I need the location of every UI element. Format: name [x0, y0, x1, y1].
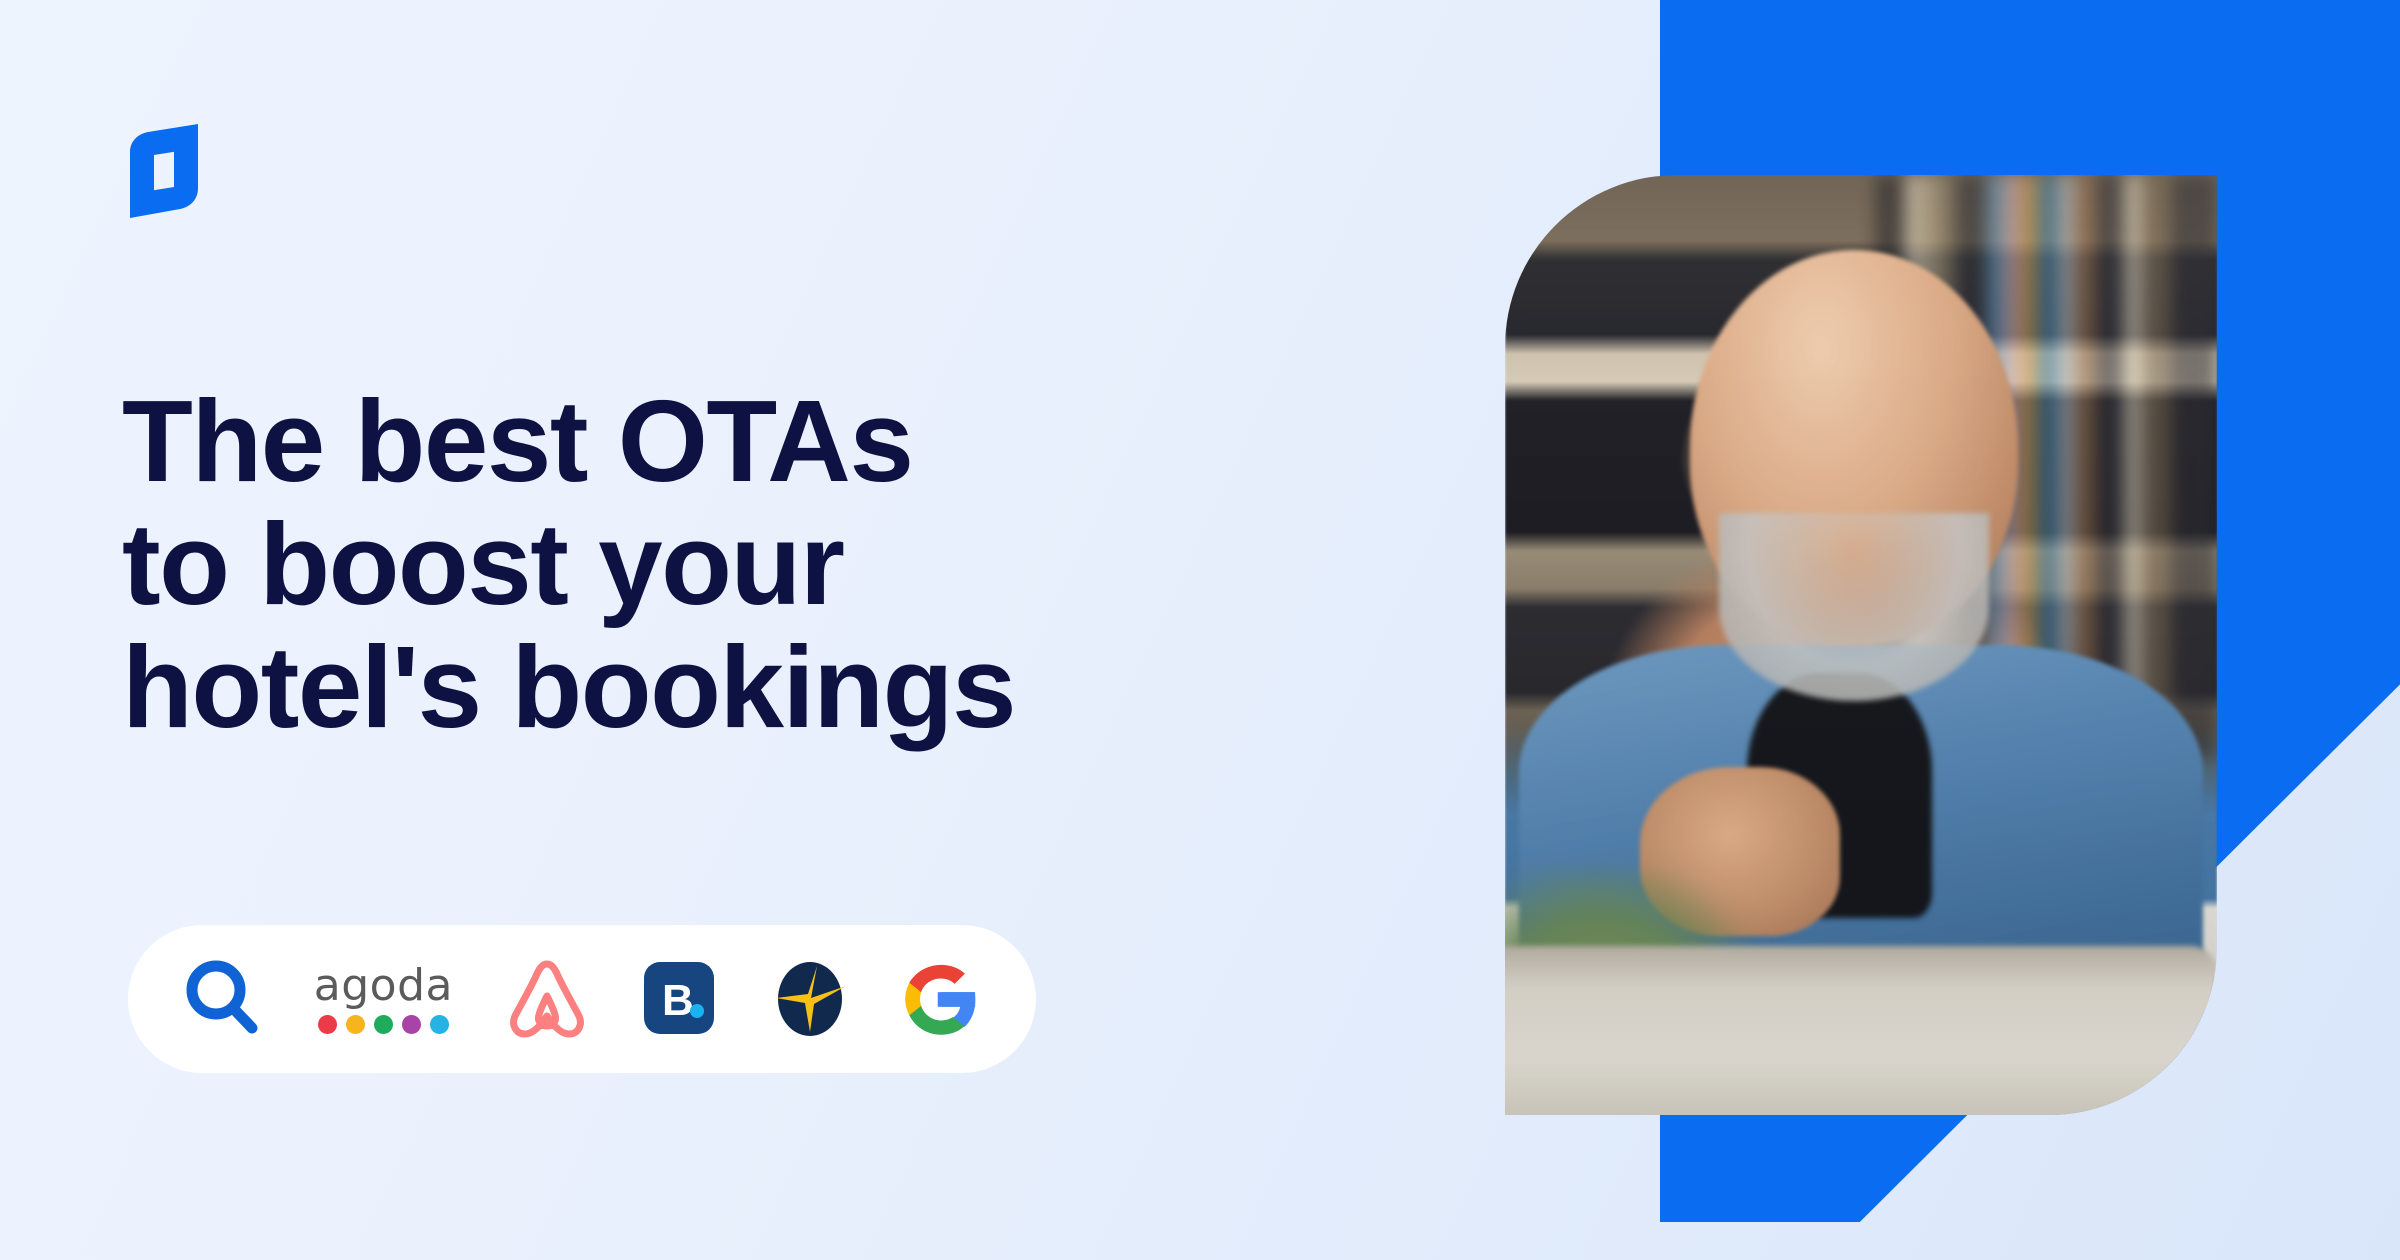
trivago-logo[interactable] — [184, 954, 262, 1044]
agoda-dots — [318, 1015, 449, 1034]
agoda-dot-red — [318, 1015, 337, 1034]
hero-banner: The best OTAs to boost your hotel's book… — [0, 0, 2400, 1260]
svg-text:B: B — [662, 976, 694, 1025]
agoda-dot-cyan — [430, 1015, 449, 1034]
ota-logo-pill: agoda B — [128, 925, 1036, 1073]
siteminder-logo[interactable] — [118, 122, 210, 220]
google-logo[interactable] — [902, 954, 980, 1044]
hotelier-laptop-photo — [1505, 175, 2217, 1115]
agoda-logo[interactable]: agoda — [314, 954, 453, 1044]
agoda-wordmark: agoda — [314, 964, 453, 1008]
hero-artwork — [1450, 0, 2400, 1260]
agoda-dot-yellow — [346, 1015, 365, 1034]
expedia-logo[interactable] — [770, 954, 850, 1044]
page-title: The best OTAs to boost your hotel's book… — [122, 380, 1352, 749]
agoda-dot-green — [374, 1015, 393, 1034]
booking-com-logo[interactable]: B — [640, 954, 718, 1044]
agoda-dot-purple — [402, 1015, 421, 1034]
photo-tone-overlay — [1505, 175, 2217, 1115]
airbnb-logo[interactable] — [505, 954, 589, 1044]
